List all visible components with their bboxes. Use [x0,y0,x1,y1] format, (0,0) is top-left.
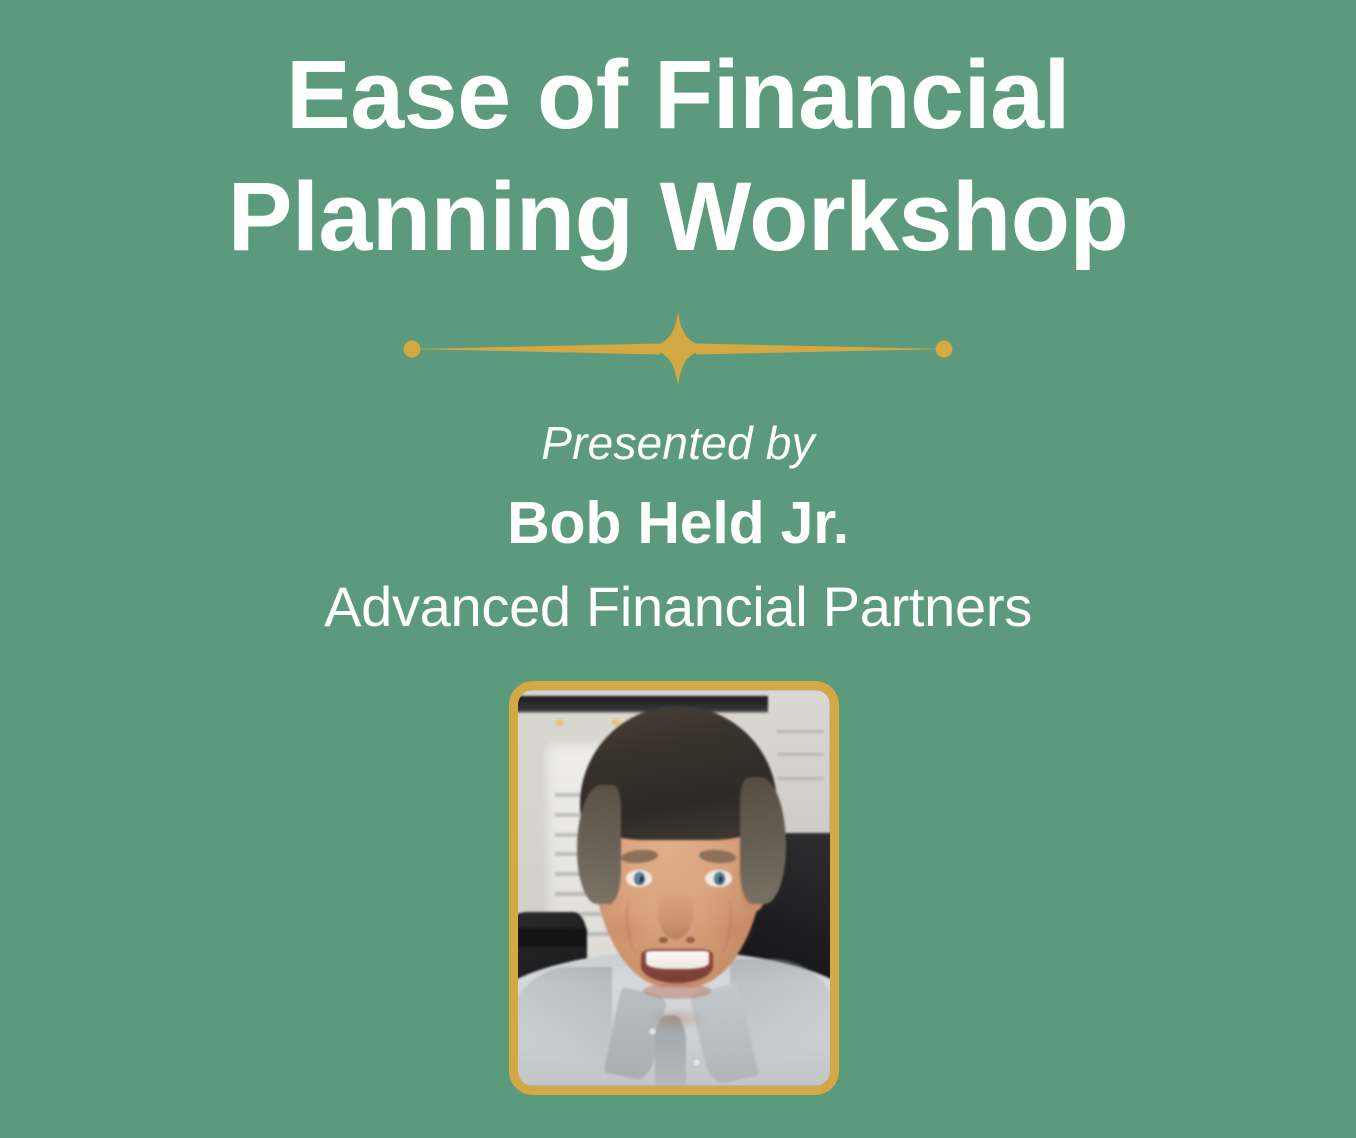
photo-nose [658,888,692,939]
presentation-slide: Ease of Financial Planning Workshop Pres… [0,0,1356,1138]
presenter-name: Bob Held Jr. [0,485,1356,563]
presenter-organization: Advanced Financial Partners [0,571,1356,644]
photo-smile [641,949,713,983]
slide-title: Ease of Financial Planning Workshop [0,34,1356,278]
portrait-frame [509,681,839,1095]
photo-eye-right [705,870,732,887]
credits-block: Presented by Bob Held Jr. Advanced Finan… [0,414,1356,644]
presenter-photo [518,690,830,1086]
presented-by-label: Presented by [0,414,1356,473]
star-divider [396,310,960,388]
four-pointed-star-divider-icon [396,310,960,388]
photo-eye-left [626,870,653,887]
